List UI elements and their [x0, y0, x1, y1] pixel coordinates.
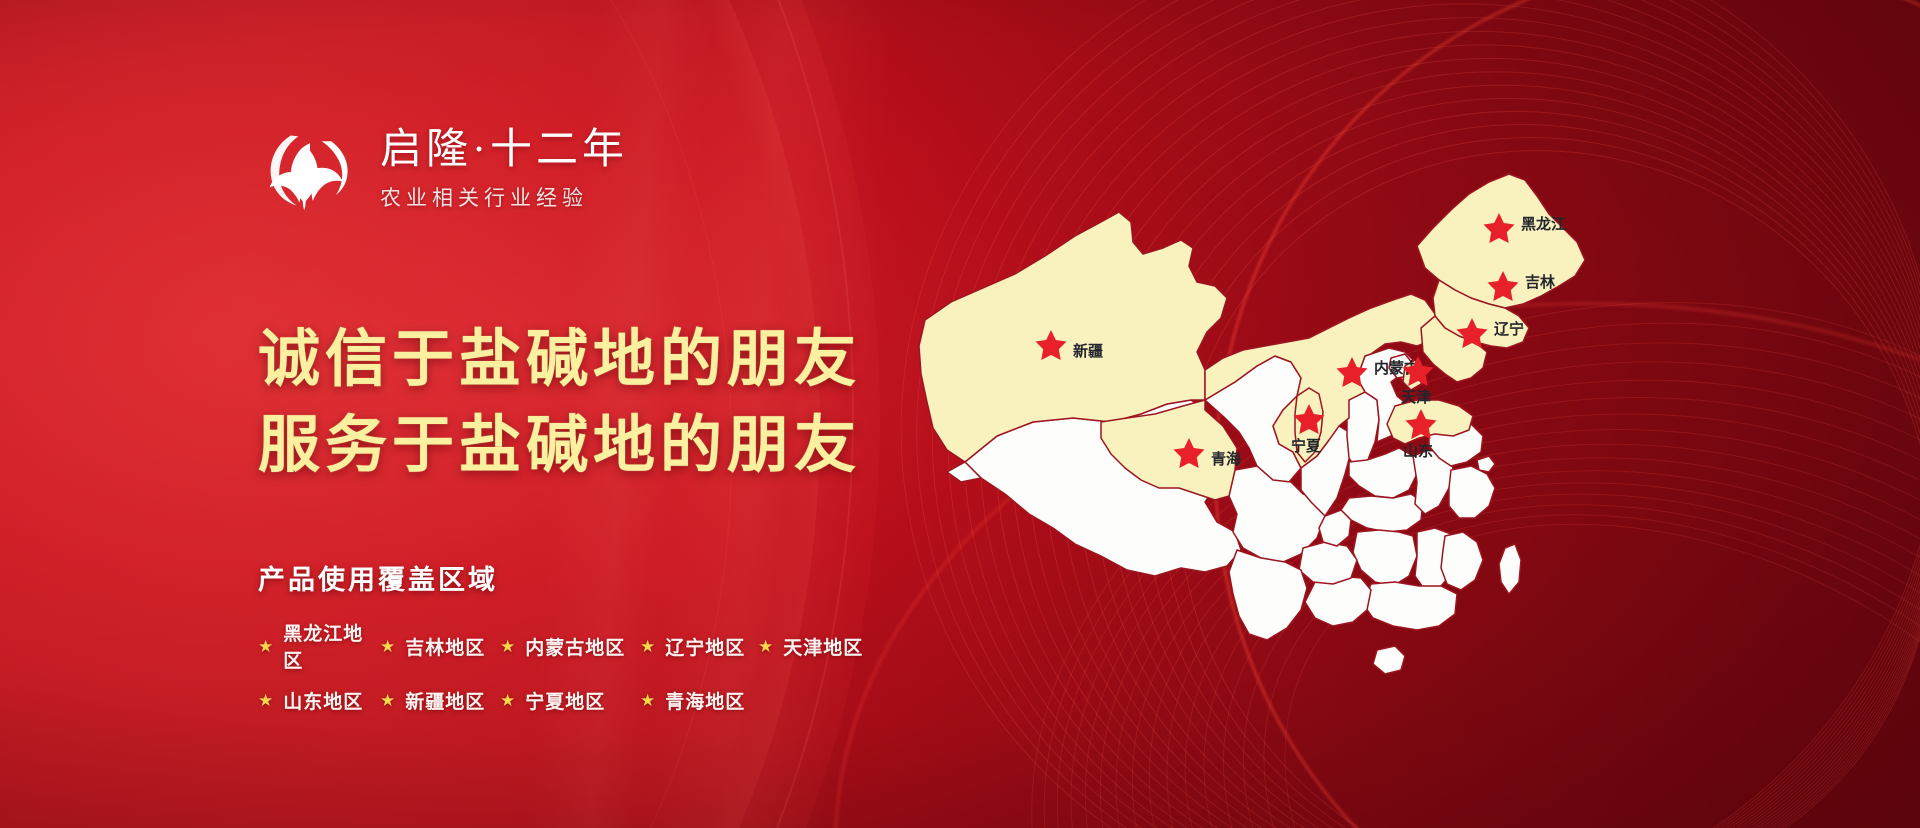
coverage-title: 产品使用覆盖区域	[258, 558, 863, 597]
region-label: 宁夏地区	[525, 687, 605, 714]
star-icon: ★	[640, 638, 655, 655]
map-label: 新疆	[1073, 342, 1103, 360]
region-label: 青海地区	[665, 687, 745, 714]
china-map[interactable]: 黑龙江 吉林 辽宁 内蒙古	[905, 70, 1645, 750]
banner-content: 启隆·十二年 农业相关行业经验 诚信于盐碱地的朋友 服务于盐碱地的朋友 产品使用…	[0, 0, 1920, 828]
star-icon: ★	[380, 638, 395, 655]
brand-lockup: 启隆·十二年 农业相关行业经验	[262, 122, 628, 218]
brand-subtitle: 农业相关行业经验	[380, 182, 628, 212]
region-label: 新疆地区	[405, 687, 485, 714]
brand-name: 启隆·十二年	[380, 128, 628, 172]
lotus-leaf-circle-logo-icon	[262, 122, 358, 218]
region-label: 辽宁地区	[665, 633, 745, 660]
region-item-shandong[interactable]: ★ 山东地区	[258, 687, 380, 714]
region-item-tianjin[interactable]: ★ 天津地区	[758, 633, 863, 660]
banner-stage: 启隆·十二年 农业相关行业经验 诚信于盐碱地的朋友 服务于盐碱地的朋友 产品使用…	[0, 0, 1920, 828]
region-item-ningxia[interactable]: ★ 宁夏地区	[500, 687, 640, 714]
star-icon: ★	[258, 692, 273, 709]
map-label: 宁夏	[1291, 437, 1322, 455]
coverage-block: 产品使用覆盖区域 ★ 黑龙江地区 ★ 吉林地区 ★ 内蒙古地区	[258, 558, 863, 714]
region-label: 吉林地区	[405, 633, 485, 660]
brand-text: 启隆·十二年 农业相关行业经验	[380, 128, 628, 212]
map-label: 黑龙江	[1521, 215, 1566, 233]
map-label: 山东	[1403, 442, 1433, 460]
map-label: 天津	[1401, 388, 1431, 406]
region-label: 黑龙江地区	[283, 619, 380, 673]
star-icon: ★	[500, 638, 515, 655]
star-icon: ★	[758, 638, 773, 655]
map-label: 吉林	[1525, 273, 1556, 291]
region-label: 内蒙古地区	[525, 633, 625, 660]
headline-line-2: 服务于盐碱地的朋友	[258, 404, 861, 490]
coverage-region-row: ★ 黑龙江地区 ★ 吉林地区 ★ 内蒙古地区 ★ 辽宁地区	[258, 619, 863, 673]
region-item-inner-mongolia[interactable]: ★ 内蒙古地区	[500, 633, 640, 660]
region-item-heilongjiang[interactable]: ★ 黑龙江地区	[258, 619, 380, 673]
coverage-region-rows: ★ 黑龙江地区 ★ 吉林地区 ★ 内蒙古地区 ★ 辽宁地区	[258, 619, 863, 714]
region-item-jilin[interactable]: ★ 吉林地区	[380, 633, 500, 660]
region-item-qinghai[interactable]: ★ 青海地区	[640, 687, 745, 714]
region-label: 天津地区	[783, 633, 863, 660]
region-label: 山东地区	[283, 687, 363, 714]
star-icon: ★	[258, 638, 273, 655]
headline-line-1: 诚信于盐碱地的朋友	[258, 318, 861, 404]
map-label: 辽宁	[1494, 320, 1524, 338]
region-item-xinjiang[interactable]: ★ 新疆地区	[380, 687, 500, 714]
china-map-svg: 黑龙江 吉林 辽宁 内蒙古	[905, 70, 1645, 750]
star-icon: ★	[640, 692, 655, 709]
star-icon: ★	[500, 692, 515, 709]
coverage-region-row: ★ 山东地区 ★ 新疆地区 ★ 宁夏地区 ★ 青海地区	[258, 687, 863, 714]
region-item-liaoning[interactable]: ★ 辽宁地区	[640, 633, 758, 660]
map-label: 青海	[1211, 450, 1241, 468]
star-icon: ★	[380, 692, 395, 709]
headline-block: 诚信于盐碱地的朋友 服务于盐碱地的朋友	[258, 318, 861, 489]
